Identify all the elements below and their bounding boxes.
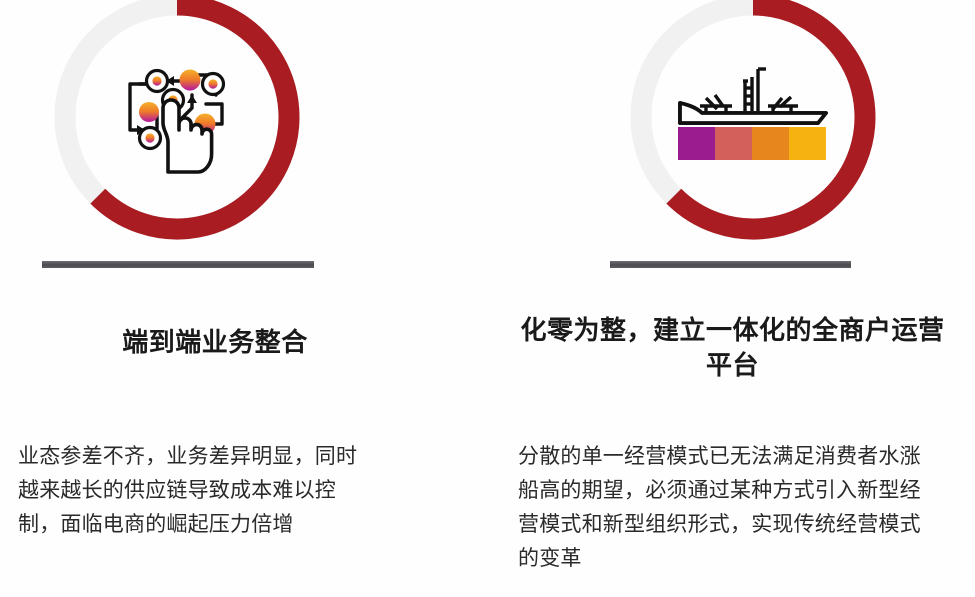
divider-left [42, 261, 314, 268]
panel-right-heading: 化零为整，建立一体化的全商户运营平台 [510, 313, 955, 383]
progress-ring-left [52, 0, 302, 242]
cargo-ship-containers-icon-svg [670, 57, 836, 177]
panel-right-body: 分散的单一经营模式已无法满足消费者水涨船高的期望，必须通过某种方式引入新型经营模… [518, 440, 938, 576]
panel-left-body: 业态参差不齐，业务差异明显，同时越来越长的供应链导致成本难以控制，面临电商的崛起… [18, 440, 368, 542]
ship-superstructure [700, 69, 798, 114]
divider-right [610, 261, 851, 268]
process-flow-touch-icon-svg [110, 50, 244, 184]
process-flow-touch-icon [52, 0, 302, 242]
progress-ring-right [628, 0, 878, 242]
container-block-2 [715, 127, 752, 160]
slide-canvas: 端到端业务整合 业态参差不齐，业务差异明显，同时越来越长的供应链导致成本难以控制… [0, 0, 975, 597]
panel-unified-merchant-platform: 化零为整，建立一体化的全商户运营平台 分散的单一经营模式已无法满足消费者水涨船高… [488, 0, 975, 597]
cargo-ship-containers-icon [628, 0, 878, 242]
container-block-4 [789, 127, 826, 160]
panel-left-heading: 端到端业务整合 [0, 325, 430, 360]
panel-end-to-end-integration: 端到端业务整合 业态参差不齐，业务差异明显，同时越来越长的供应链导致成本难以控制… [0, 0, 487, 597]
container-block-3 [752, 127, 789, 160]
container-blocks [678, 127, 826, 160]
container-block-1 [678, 127, 715, 160]
